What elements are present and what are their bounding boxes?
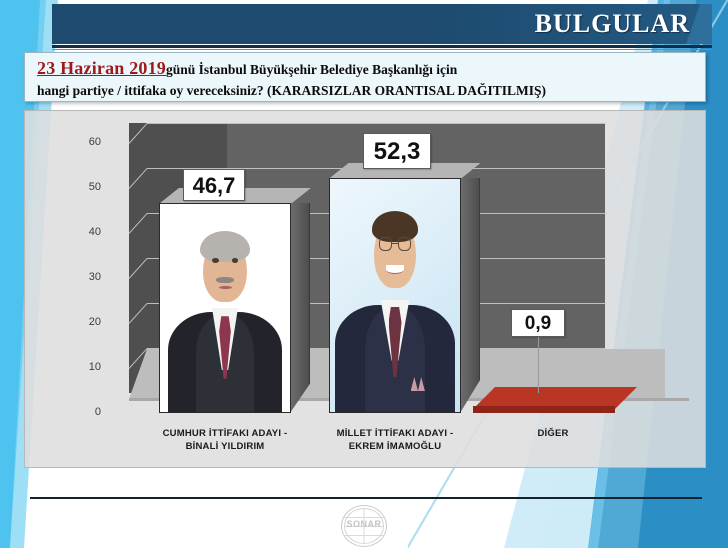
header-banner-underline	[52, 45, 712, 48]
slide: BULGULAR 23 Haziran 2019günü İstanbul Bü…	[0, 0, 728, 548]
chart-bar-front-face	[329, 178, 461, 413]
chart-value-label: 46,7	[183, 169, 245, 201]
figure-glasses-right-lens	[398, 237, 411, 251]
question-line-1: 23 Haziran 2019günü İstanbul Büyükşehir …	[37, 58, 695, 80]
logo-parallel-1	[344, 517, 384, 518]
chart-y-tick-label: 0	[47, 406, 101, 418]
chart-bar-front-face	[473, 406, 615, 413]
chart-category-label-line-2: EKREM İMAMOĞLU	[300, 440, 490, 453]
chart-category-label-line-2: BİNALİ YILDIRIM	[130, 440, 320, 453]
chart-bar[interactable]	[473, 387, 637, 417]
chart-bar[interactable]	[329, 178, 461, 413]
figure-hair	[200, 231, 249, 262]
candidate-photo	[330, 179, 460, 412]
chart-category-label: DİĞER	[458, 427, 648, 440]
question-line-2: hangi partiye / ittifaka oy vereceksiniz…	[37, 80, 695, 101]
question-date: 23 Haziran 2019	[37, 58, 166, 78]
chart-y-tick-label: 30	[47, 271, 101, 283]
chart-value-label: 52,3	[363, 133, 431, 169]
chart-bar-side-face	[290, 203, 310, 413]
chart-value-label: 0,9	[511, 309, 565, 337]
figure-eye-right	[232, 258, 239, 263]
question-box: 23 Haziran 2019günü İstanbul Büyükşehir …	[24, 52, 706, 102]
chart-category-label-line-1: DİĞER	[458, 427, 648, 440]
figure-glasses-left-lens	[379, 237, 392, 251]
chart-bar-front-face	[159, 203, 291, 413]
sonar-logo: SONAR	[341, 505, 387, 547]
chart-bar-side-face	[460, 178, 480, 413]
chart-category-label: CUMHUR İTTİFAKI ADAYI -BİNALİ YILDIRIM	[130, 427, 320, 453]
footer-rule	[30, 497, 702, 499]
chart-y-tick-label: 50	[47, 181, 101, 193]
chart-y-tick-label: 10	[47, 361, 101, 373]
chart-value-leader-line	[538, 337, 539, 393]
chart-area: 0102030405060 46,752,30,9 CUMHUR İTTİFAK…	[24, 110, 706, 468]
logo-parallel-3	[344, 535, 384, 536]
chart-plot: 0102030405060 46,752,30,9 CUMHUR İTTİFAK…	[25, 111, 705, 467]
header-banner: BULGULAR	[52, 4, 712, 44]
logo-text: SONAR	[341, 519, 387, 529]
candidate-photo	[160, 204, 290, 412]
chart-y-tick-label: 40	[47, 226, 101, 238]
chart-y-tick-label: 60	[47, 136, 101, 148]
figure-hair	[372, 211, 419, 241]
chart-y-tick-label: 20	[47, 316, 101, 328]
question-line-1-rest: günü İstanbul Büyükşehir Belediye Başkan…	[166, 62, 457, 77]
figure-eye-left	[212, 258, 219, 263]
figure-glasses-bridge	[392, 243, 399, 244]
chart-category-label-line-1: CUMHUR İTTİFAKI ADAYI -	[130, 427, 320, 440]
chart-bar[interactable]	[159, 203, 291, 413]
chart-gridline	[147, 123, 607, 124]
header-banner-underline-light	[52, 49, 712, 50]
figure-moustache	[216, 277, 234, 284]
page-title: BULGULAR	[535, 9, 690, 39]
